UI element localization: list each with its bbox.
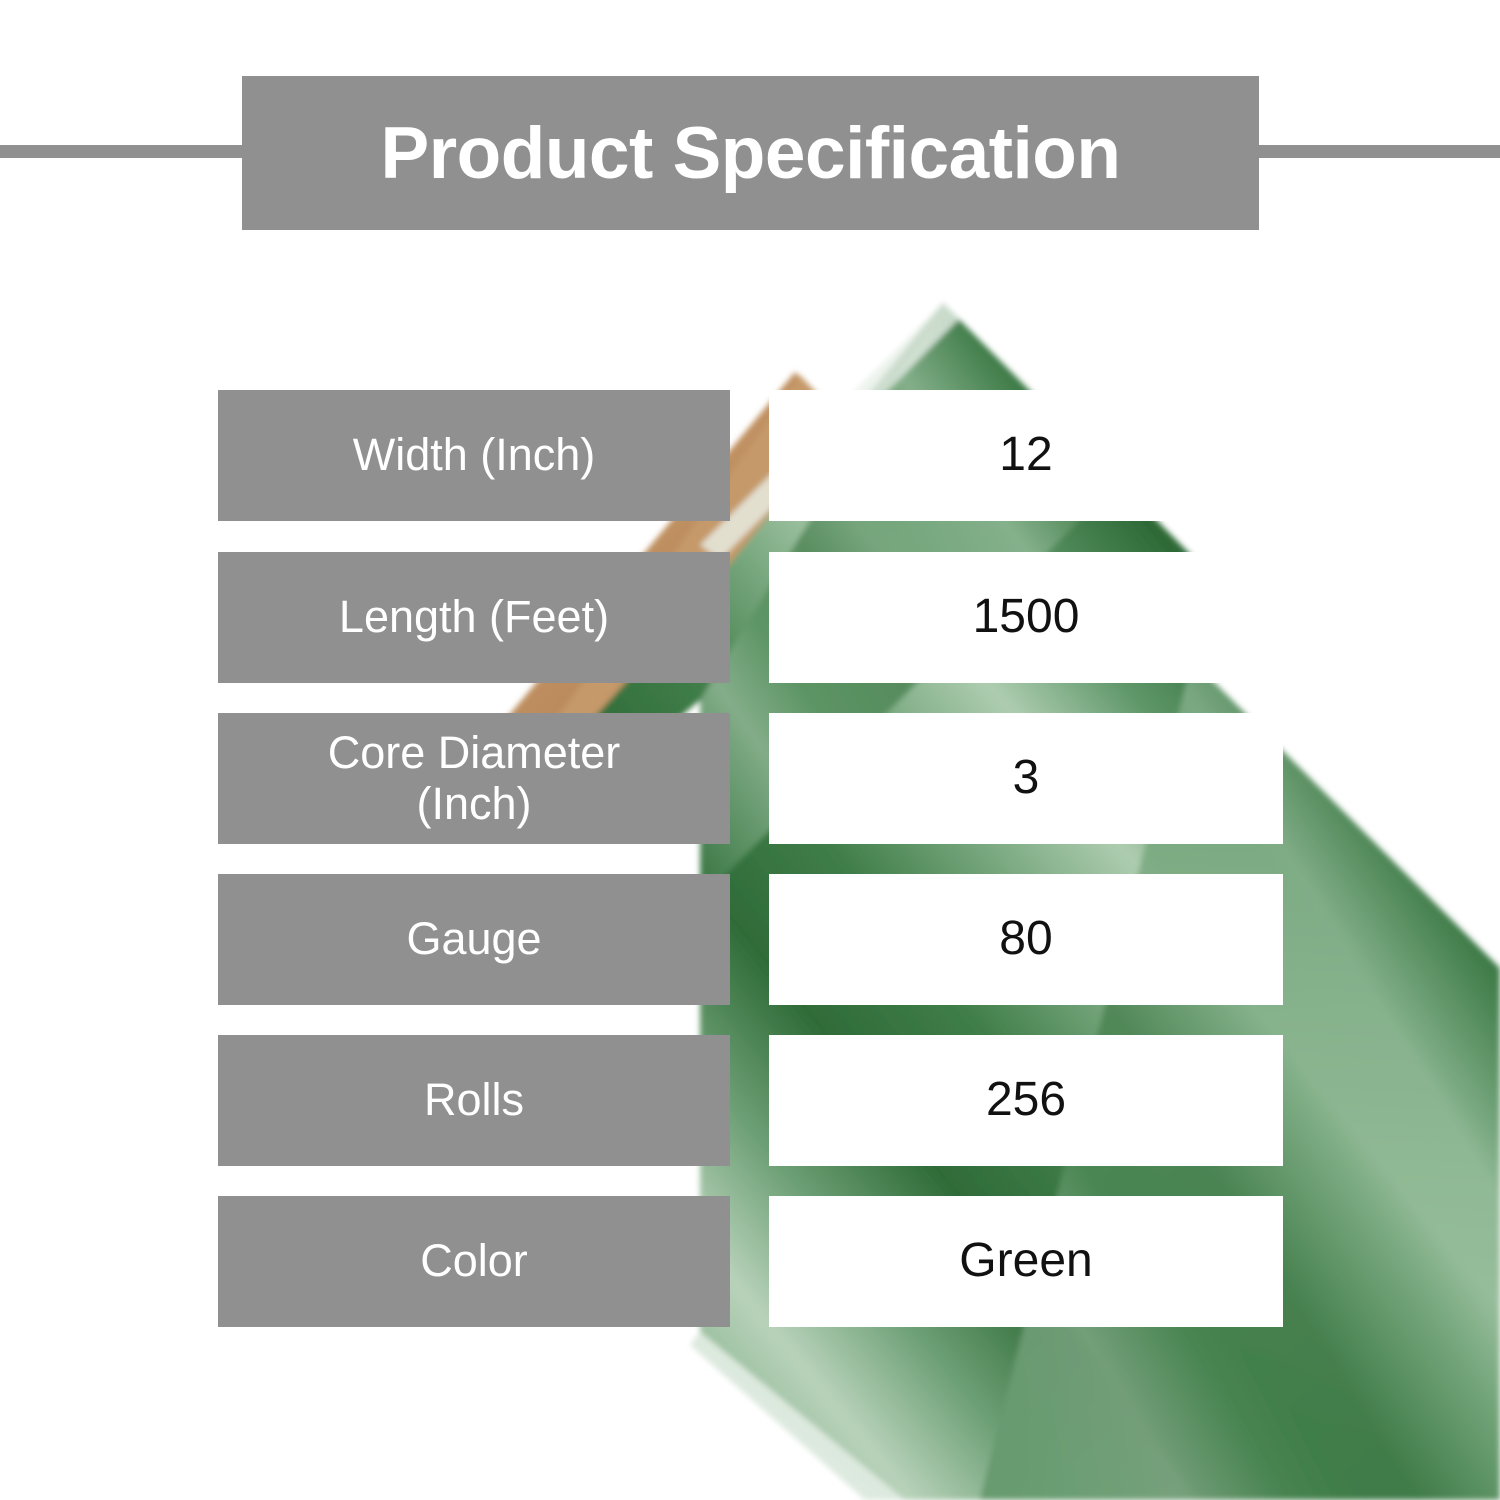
spec-row: ColorGreen	[0, 1196, 1500, 1327]
spec-value-cell: 12	[769, 390, 1283, 521]
spec-row: Rolls256	[0, 1035, 1500, 1166]
spec-label-cell: Core Diameter(Inch)	[218, 713, 730, 844]
spec-row: Width (Inch)12	[0, 390, 1500, 521]
spec-label-cell: Rolls	[218, 1035, 730, 1166]
spec-label-cell: Color	[218, 1196, 730, 1327]
spec-label-cell: Width (Inch)	[218, 390, 730, 521]
spec-row: Length (Feet)1500	[0, 552, 1500, 683]
product-specification-table: Width (Inch)12Length (Feet)1500Core Diam…	[0, 0, 1500, 1500]
spec-value-cell: 80	[769, 874, 1283, 1005]
spec-label-cell: Length (Feet)	[218, 552, 730, 683]
spec-value-cell: 256	[769, 1035, 1283, 1166]
spec-value-cell: 1500	[769, 552, 1283, 683]
spec-label-cell: Gauge	[218, 874, 730, 1005]
spec-row: Core Diameter(Inch)3	[0, 713, 1500, 844]
spec-value-cell: 3	[769, 713, 1283, 844]
spec-value-cell: Green	[769, 1196, 1283, 1327]
spec-row: Gauge80	[0, 874, 1500, 1005]
